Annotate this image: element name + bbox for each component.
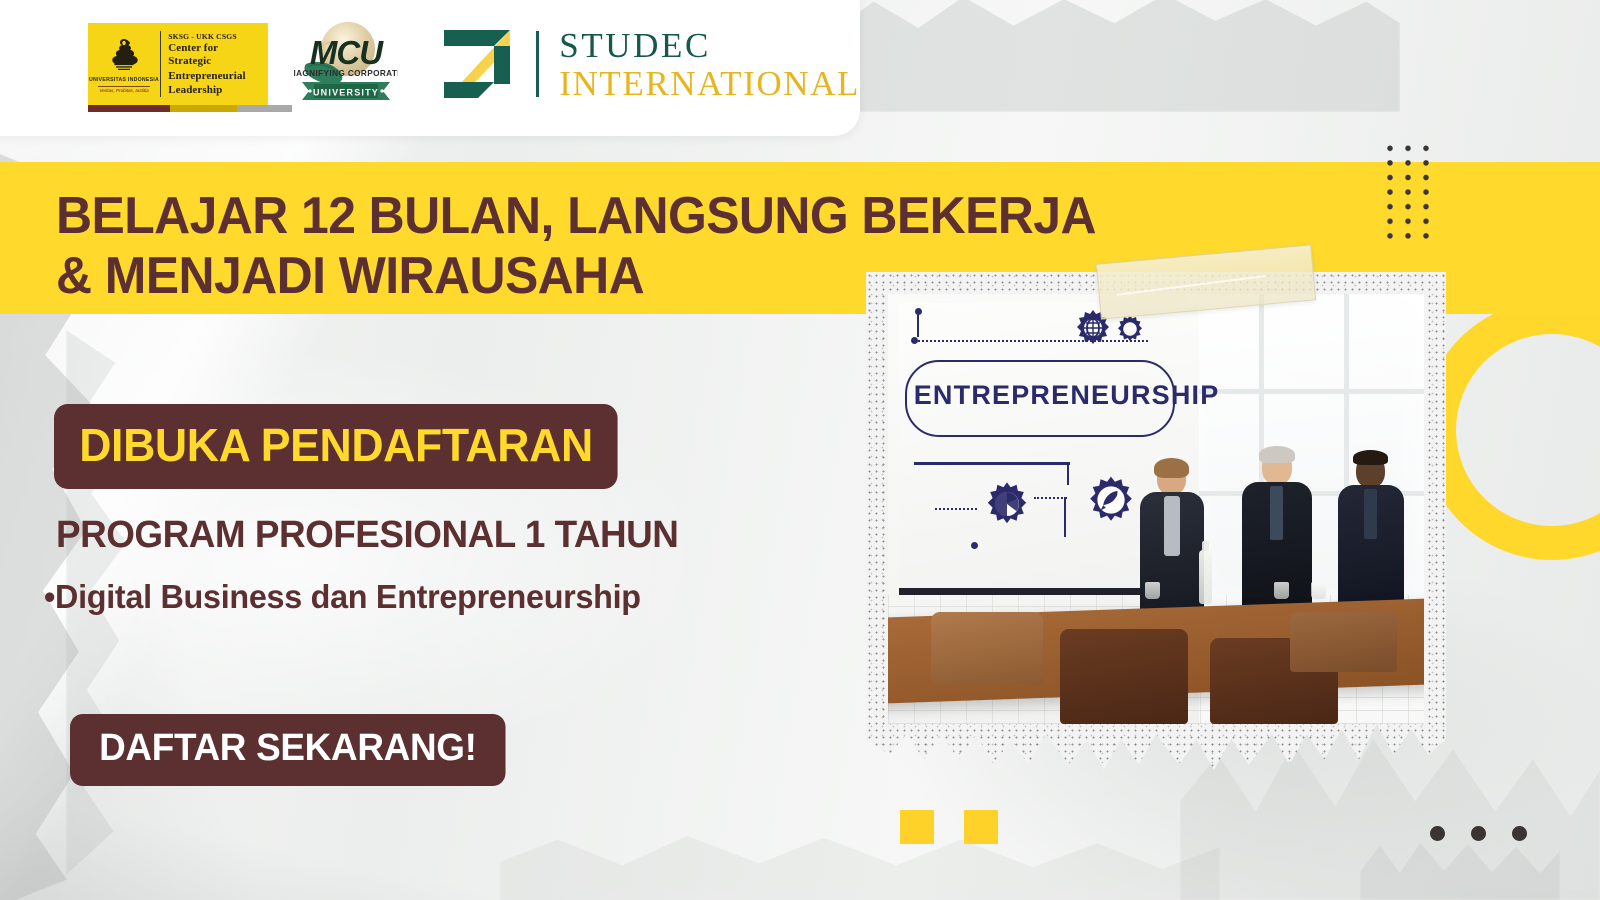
water-bottle — [1199, 550, 1212, 604]
makara-crest-icon — [103, 37, 145, 77]
ui-logo-line3: Leadership — [168, 84, 262, 97]
photo-card: ENTREPRENEURSHIP — [866, 272, 1446, 780]
studec-s-mark-icon — [438, 26, 516, 102]
register-now-button[interactable]: DAFTAR SEKARANG! — [70, 714, 506, 786]
studec-logo: STUDEC INTERNATIONAL — [438, 26, 860, 102]
drinking-glass — [1311, 582, 1326, 599]
drinking-glass — [1145, 582, 1160, 599]
banner-canvas: UNIVERSITAS INDONESIA Veritas, Probitas,… — [0, 0, 1600, 900]
universitas-indonesia-logo: UNIVERSITAS INDONESIA Veritas, Probitas,… — [88, 23, 268, 105]
ui-logo-footer-bars — [88, 105, 292, 112]
mcu-logo: MCU MAGNIFYING CORPORATE UNIVERSITY — [294, 16, 398, 112]
yellow-squares-decoration — [900, 810, 998, 844]
logo-bar: UNIVERSITAS INDONESIA Veritas, Probitas,… — [0, 0, 860, 136]
mcu-logo-icon: MCU MAGNIFYING CORPORATE UNIVERSITY — [294, 16, 398, 112]
office-chair — [1060, 629, 1189, 724]
ui-crest-block: UNIVERSITAS INDONESIA Veritas, Probitas,… — [88, 23, 160, 105]
svg-text:MAGNIFYING CORPORATE: MAGNIFYING CORPORATE — [294, 69, 398, 78]
gear-icon — [1115, 314, 1145, 349]
pie-chart-gear-icon — [983, 480, 1031, 533]
yellow-arc-decoration — [1422, 300, 1600, 560]
svg-text:MCU: MCU — [310, 34, 384, 71]
dot-grid-decoration — [1378, 138, 1440, 240]
drinking-glass — [1274, 582, 1289, 599]
ui-logo-eyebrow: SKSG - UKK CSGS — [168, 32, 262, 41]
headline-line-1: BELAJAR 12 BULAN, LANGSUNG BEKERJA — [56, 186, 1189, 246]
ui-logo-line2: Entrepreneurial — [168, 70, 262, 83]
board-text: ENTREPRENEURSHIP — [914, 380, 1220, 411]
ui-crest-motto: Veritas, Probitas, Iustitia — [98, 86, 150, 94]
studec-line2: INTERNATIONAL — [559, 66, 860, 101]
studec-wordmark: STUDEC INTERNATIONAL — [559, 28, 860, 101]
meeting-room-photo: ENTREPRENEURSHIP — [888, 294, 1424, 724]
program-subheading: PROGRAM PROFESIONAL 1 TAHUN — [56, 514, 678, 557]
studec-divider — [536, 31, 539, 97]
svg-text:UNIVERSITY: UNIVERSITY — [313, 88, 379, 98]
office-chair — [1290, 612, 1397, 672]
rocket-gear-icon — [1085, 474, 1137, 531]
ui-logo-line1: Center for Strategic — [168, 42, 262, 69]
registration-open-badge: DIBUKA PENDAFTARAN — [54, 404, 618, 489]
office-chair — [931, 612, 1044, 685]
texture-smudge — [500, 812, 1220, 900]
ui-crest-name: UNIVERSITAS INDONESIA — [89, 77, 159, 84]
person-man — [1338, 454, 1404, 612]
texture-smudge — [840, 0, 1400, 112]
three-dots-decoration — [1430, 826, 1527, 841]
ui-logo-text: SKSG - UKK CSGS Center for Strategic Ent… — [161, 23, 268, 105]
program-bullet-item: •Digital Business dan Entrepreneurship — [44, 578, 641, 616]
studec-line1: STUDEC — [559, 28, 860, 63]
